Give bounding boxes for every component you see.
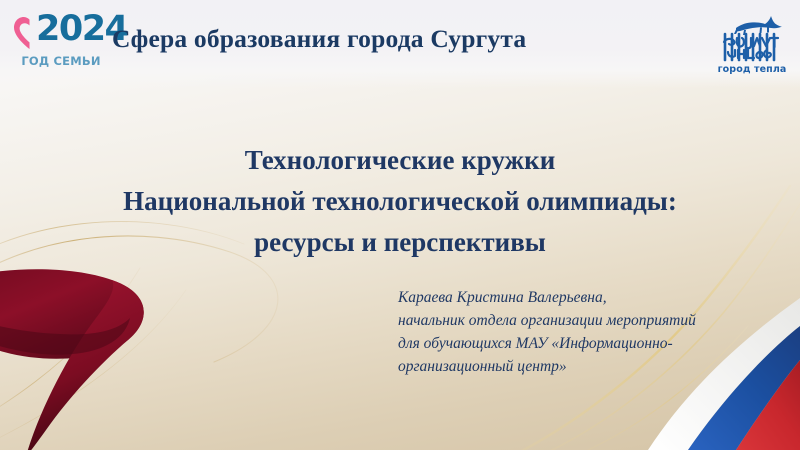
slide-title-block: Технологические кружки Национальной техн…: [50, 140, 750, 263]
author-position-line-1: начальник отдела организации мероприятий: [398, 309, 778, 332]
author-position-line-3: организационный центр»: [398, 355, 778, 378]
logo-surgut: город тепла: [712, 12, 792, 80]
slide-title-line-3: ресурсы и перспективы: [50, 222, 750, 263]
slide-title-line-1: Технологические кружки: [50, 140, 750, 181]
red-ribbon-decoration: [0, 269, 144, 450]
logo-year-subtitle: ГОД СЕМЬИ: [18, 54, 104, 68]
presentation-slide: 2024 ГОД СЕМЬИ Сфера образования города …: [0, 0, 800, 450]
slide-title-line-2: Национальной технологической олимпиады:: [50, 181, 750, 222]
slide-author-block: Караева Кристина Валерьевна, начальник о…: [398, 286, 778, 378]
logo-surgut-subtitle: город тепла: [712, 64, 792, 75]
fox-icon: [734, 16, 782, 35]
author-name: Караева Кристина Валерьевна,: [398, 286, 778, 309]
author-position-line-2: для обучающихся МАУ «Информационно-: [398, 332, 778, 355]
surgut-emblem: [712, 12, 792, 66]
slide-header-title: Сфера образования города Сургута: [112, 24, 526, 54]
logo-year-of-family: 2024 ГОД СЕМЬИ: [12, 10, 104, 80]
